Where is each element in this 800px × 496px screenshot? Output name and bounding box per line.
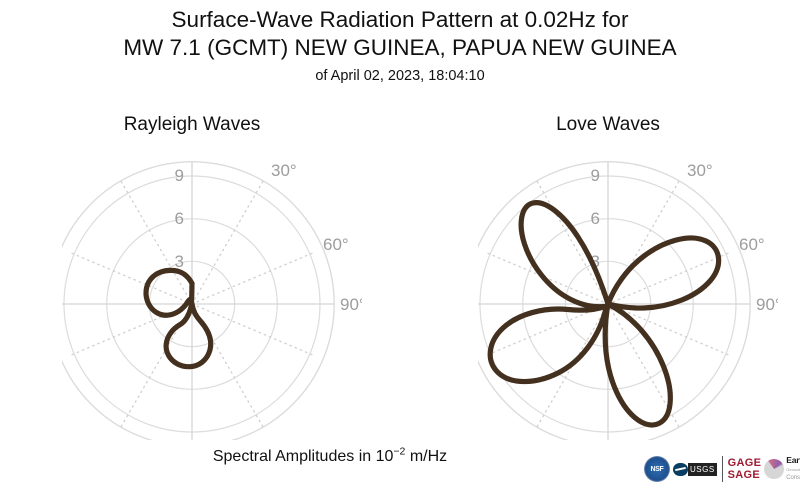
note-prefix: Spectral Amplitudes in 10 (213, 448, 394, 465)
love-panel-title: Love Waves (458, 114, 758, 136)
rayleigh-polar-plot: 3 6 9 30° 60° 90° (62, 140, 362, 445)
love-svg: 3 6 9 30° 60° 90° (478, 140, 778, 440)
figure-root: Surface-Wave Radiation Pattern at 0.02Hz… (0, 0, 800, 496)
radial-tick-3: 3 (175, 252, 184, 271)
sponsor-logo-strip: USGS GAGE SAGE EarthScope Geoscience Con… (644, 452, 796, 486)
sage-label: SAGE (728, 469, 762, 481)
radial-tick-6: 6 (591, 209, 600, 228)
rayleigh-panel-title: Rayleigh Waves (42, 114, 342, 136)
love-radial-ticks: 3 6 9 (591, 166, 600, 271)
earthscope-logo: EarthScope Geoscience Consortium (764, 456, 800, 483)
figure-title-line-2: MW 7.1 (GCMT) NEW GUINEA, PAPUA NEW GUIN… (0, 34, 800, 62)
rayleigh-azimuth-ticks: 30° 60° 90° (271, 161, 362, 314)
usgs-logo-label: USGS (688, 463, 717, 476)
earthscope-sub: Consortium (786, 474, 800, 483)
earthscope-mark-icon (764, 459, 784, 479)
gage-label: GAGE (728, 457, 762, 469)
radial-tick-9: 9 (591, 166, 600, 185)
earthscope-text: EarthScope Geoscience Consortium (786, 456, 800, 483)
earthscope-name: EarthScope (786, 456, 800, 465)
azimuth-tick-30: 30° (271, 161, 297, 180)
earthscope-tiny: Geoscience (786, 465, 800, 474)
logo-divider (722, 456, 723, 482)
figure-header: Surface-Wave Radiation Pattern at 0.02Hz… (0, 6, 800, 87)
rayleigh-radiation-curve (146, 270, 211, 366)
azimuth-tick-60: 60° (323, 235, 349, 254)
figure-subtitle: of April 02, 2023, 18:04:10 (0, 65, 800, 87)
rayleigh-svg: 3 6 9 30° 60° 90° (62, 140, 362, 440)
azimuth-tick-60: 60° (739, 235, 765, 254)
radial-tick-6: 6 (175, 209, 184, 228)
rayleigh-grid (62, 162, 334, 440)
rayleigh-radial-ticks: 3 6 9 (175, 166, 184, 271)
azimuth-tick-90: 90° (340, 295, 362, 314)
radial-tick-9: 9 (175, 166, 184, 185)
usgs-logo-icon: USGS (673, 463, 717, 476)
note-exponent: −2 (393, 446, 405, 458)
figure-title-line-1: Surface-Wave Radiation Pattern at 0.02Hz… (0, 6, 800, 34)
azimuth-tick-30: 30° (687, 161, 713, 180)
nsf-logo-icon (644, 456, 670, 482)
gage-sage-logo: GAGE SAGE (728, 457, 762, 481)
love-grid (478, 162, 750, 440)
note-suffix: m/Hz (405, 448, 447, 465)
love-polar-plot: 3 6 9 30° 60° 90° (478, 140, 778, 445)
usgs-mark-icon (673, 463, 688, 476)
love-radiation-curve (490, 203, 718, 425)
spectral-amplitude-note: Spectral Amplitudes in 10−2 m/Hz (0, 448, 660, 466)
azimuth-tick-90: 90° (756, 295, 778, 314)
